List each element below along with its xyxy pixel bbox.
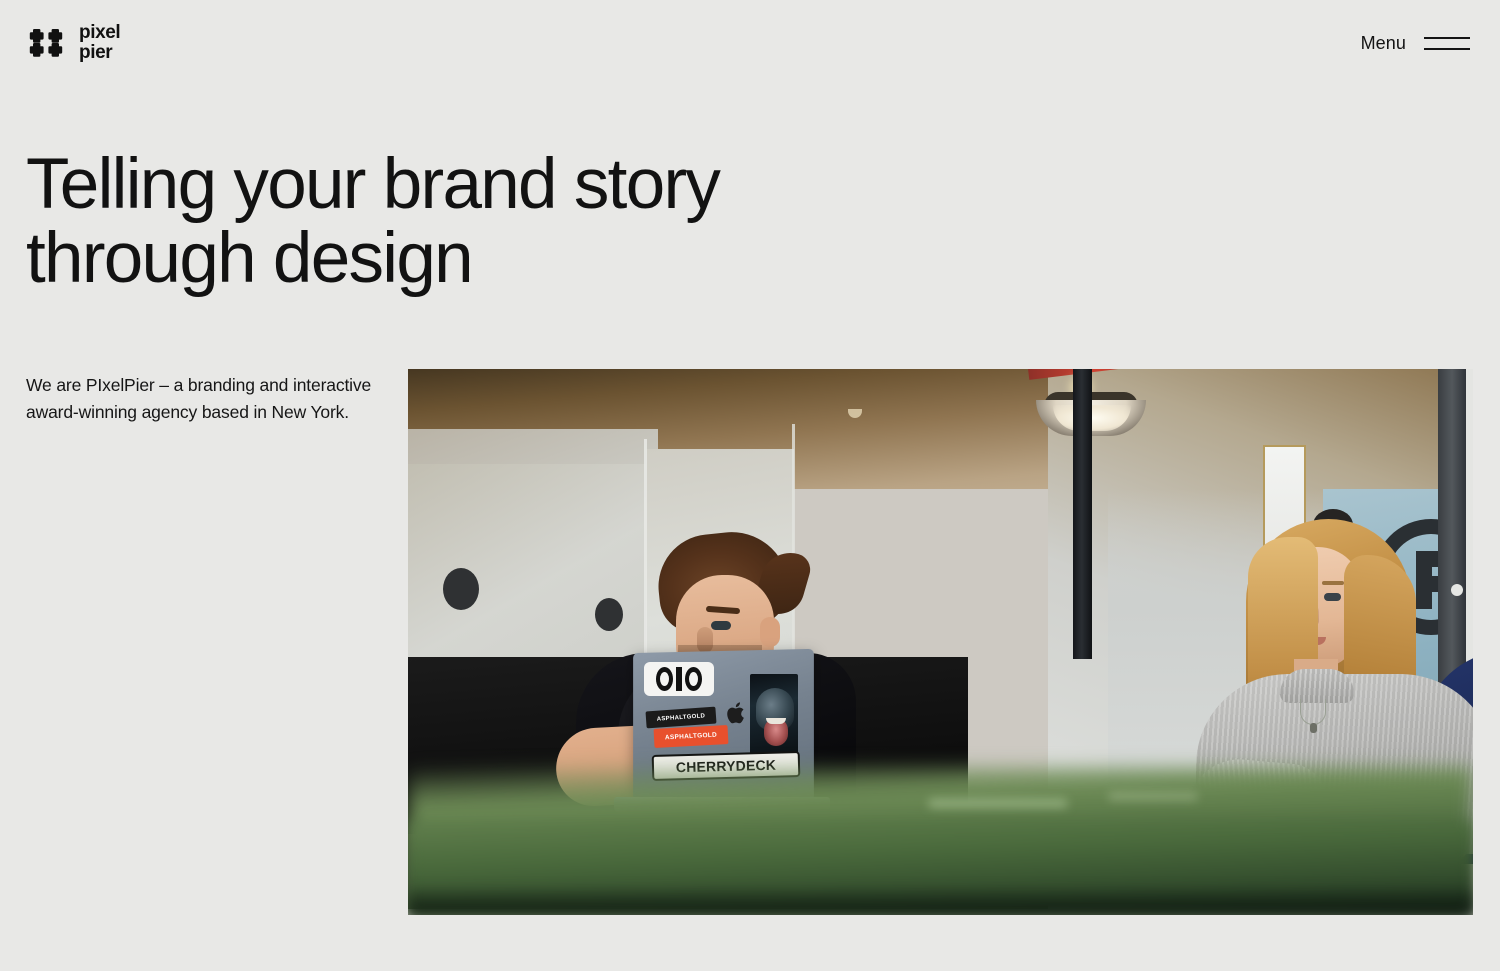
door-knob [1451,584,1463,596]
brand-logo-link[interactable]: pixel pier [26,23,120,63]
structural-column [1073,369,1092,659]
site-header: pixel pier Menu [0,0,1500,86]
person-center-sweater-collar [1280,669,1354,703]
table-highlight-1 [928,799,1068,808]
brand-name-line1: pixel [79,23,120,43]
person-center-brow-right [1322,581,1344,585]
person-left-eye [711,621,731,630]
sticker-ucn-logo-icon [644,662,714,696]
table-edge-shadow [408,889,1473,915]
frosted-dot-right [595,598,623,631]
frosted-dot-left [443,568,479,610]
page-title: Telling your brand story through design [26,148,846,296]
sticker-gorilla-photo [750,674,798,758]
menu-toggle-button[interactable]: Menu [1359,29,1472,58]
hamburger-icon [1424,37,1470,50]
page-title-line1: Telling your brand story [26,148,846,222]
sticker-asphaltgold-orange: ASPHALTGOLD [654,725,729,748]
pixelpier-clover-logo-icon [26,23,66,63]
person-center-necklace-pendant [1310,723,1317,733]
table-highlight-2 [1108,793,1198,800]
sticker-apple-logo-icon [726,700,748,727]
person-center-necklace [1300,699,1326,725]
brand-name-line2: pier [79,43,120,63]
page-title-line2: through design [26,222,846,296]
page-root: pixel pier Menu Telling your brand story… [0,0,1500,971]
intro-paragraph: We are PIxelPier – a branding and intera… [26,372,386,425]
person-center-eye-right [1324,593,1341,601]
hero-photo: ASPHALTGOLD ASPHALTGOLD CHERRYDECK [408,369,1473,915]
person-left-ear [760,617,780,647]
menu-label: Menu [1361,33,1406,54]
brand-name: pixel pier [79,23,120,62]
